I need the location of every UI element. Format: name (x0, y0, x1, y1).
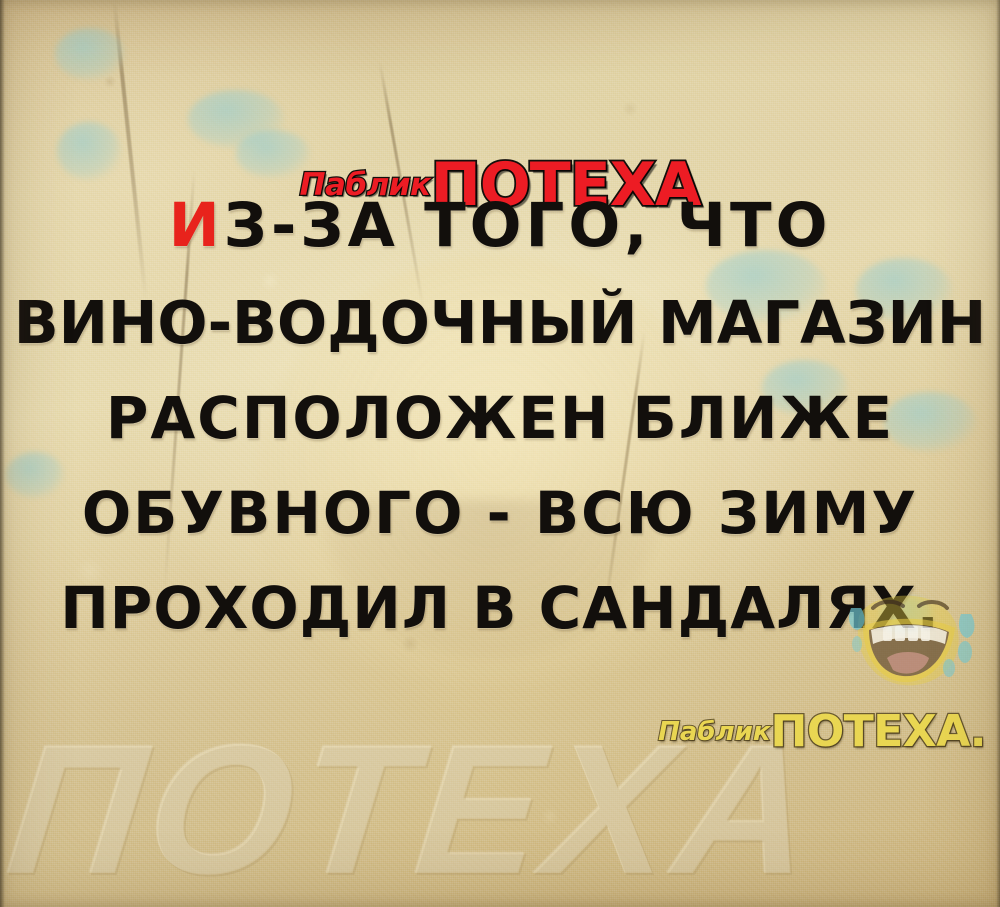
watermark-bottom-small-label: Паблик (658, 717, 770, 747)
caption-line-2: ВИНО-ВОДОЧНЫЙ МАГАЗИН (0, 293, 1000, 352)
tear-blob (55, 28, 125, 80)
caption-line-3-text: РАСПОЛОЖЕН БЛИЖЕ (106, 384, 894, 452)
caption-line-4: ОБУВНОГО - ВСЮ ЗИМУ (0, 484, 1000, 542)
caption-line-4-text: ОБУВНОГО - ВСЮ ЗИМУ (82, 479, 918, 547)
caption-line-1-text: З-ЗА ТОГО, ЧТО (224, 190, 832, 261)
tear-blob (236, 130, 310, 178)
watermark-bottom: ПабликПОТЕХА. (658, 706, 986, 757)
caption-line-5: ПРОХОДИЛ В САНДАЛЯХ. (0, 579, 1000, 637)
tear-blob (57, 122, 121, 180)
ghost-watermark-text: ПОТЕХА (0, 718, 999, 903)
tear-blob (188, 90, 284, 148)
meme-image: ПОТЕХА ПабликПОТЕХА ИЗ-ЗА ТОГО, ЧТО ВИНО… (0, 0, 1000, 907)
watermark-bottom-big-label: ПОТЕХА. (771, 706, 987, 757)
caption-line-5-text: ПРОХОДИЛ В САНДАЛЯХ. (60, 574, 939, 642)
caption-line-3: РАСПОЛОЖЕН БЛИЖЕ (0, 389, 1000, 447)
caption-line-1: ИЗ-ЗА ТОГО, ЧТО (0, 195, 1000, 256)
meme-caption: ИЗ-ЗА ТОГО, ЧТО ВИНО-ВОДОЧНЫЙ МАГАЗИН РА… (0, 195, 1000, 637)
caption-line-2-text: ВИНО-ВОДОЧНЫЙ МАГАЗИН (14, 288, 987, 357)
caption-line-1-accent-letter: И (169, 190, 224, 261)
